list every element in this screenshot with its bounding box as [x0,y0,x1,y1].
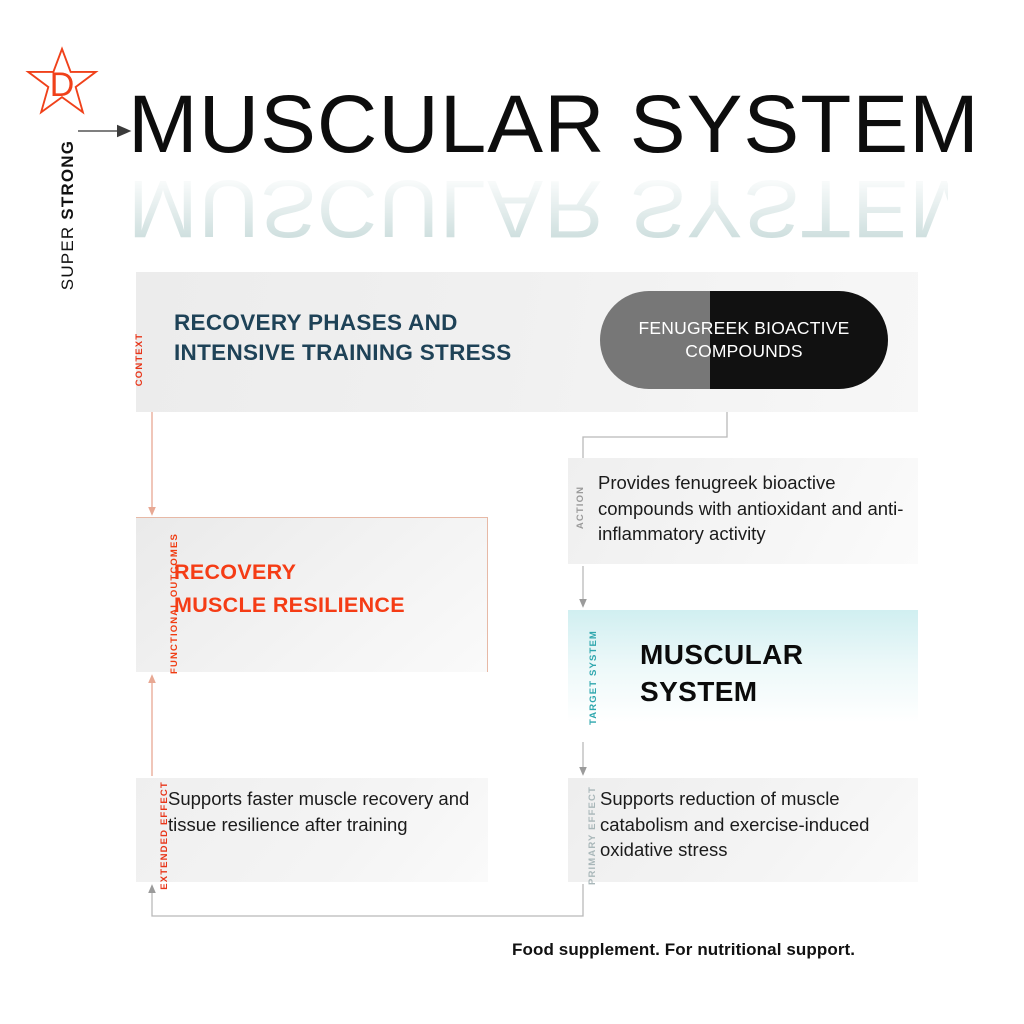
action-panel: ACTION Provides fenugreek bioactive comp… [568,458,918,564]
target-system-panel: TARGET SYSTEM MUSCULAR SYSTEM [568,610,918,742]
tagline-word-super: SUPER [58,220,77,291]
capsule-line1: FENUGREEK BIOACTIVE [639,317,850,340]
tagline-word-strong: STRONG [58,140,77,220]
context-heading-line2: INTENSIVE TRAINING STRESS [174,338,512,368]
primary-effect-axis-label: PRIMARY EFFECT [587,786,598,885]
action-axis-label: ACTION [575,486,586,529]
primary-effect-panel: PRIMARY EFFECT Supports reduction of mus… [568,778,918,882]
context-heading: RECOVERY PHASES AND INTENSIVE TRAINING S… [174,308,512,368]
infographic-canvas: D SUPER STRONG MUSCULAR SYSTEM MUSCULAR … [0,0,1024,1024]
context-heading-line1: RECOVERY PHASES AND [174,308,512,338]
page-title-text: MUSCULAR SYSTEM [128,82,944,168]
super-strong-tagline: SUPER STRONG [58,125,78,305]
primary-effect-description: Supports reduction of muscle catabolism … [600,786,910,863]
star-logo-letter: D [26,46,98,118]
outcomes-heading-line2: MUSCLE RESILIENCE [174,589,405,622]
extended-effect-description: Supports faster muscle recovery and tiss… [168,786,480,837]
action-description: Provides fenugreek bioactive compounds w… [598,470,910,547]
capsule-line2: COMPOUNDS [639,340,850,363]
target-heading-line1: MUSCULAR [640,636,803,673]
target-system-axis-label: TARGET SYSTEM [588,630,599,725]
target-system-heading: MUSCULAR SYSTEM [640,636,803,710]
context-axis-label: CONTEXT [134,333,145,386]
functional-outcomes-heading: RECOVERY MUSCLE RESILIENCE [174,556,405,622]
ingredient-capsule-text: FENUGREEK BIOACTIVE COMPOUNDS [600,291,888,389]
outcomes-heading-line1: RECOVERY [174,556,405,589]
ingredient-capsule: FENUGREEK BIOACTIVE COMPOUNDS [600,291,888,389]
footer-disclaimer: Food supplement. For nutritional support… [512,940,855,960]
extended-effect-panel: EXTENDED EFFECT Supports faster muscle r… [136,778,488,882]
functional-outcomes-panel: FUNCTIONAL OUTCOMES RECOVERY MUSCLE RESI… [136,517,488,672]
target-heading-line2: SYSTEM [640,673,803,710]
page-title: MUSCULAR SYSTEM [128,82,928,242]
